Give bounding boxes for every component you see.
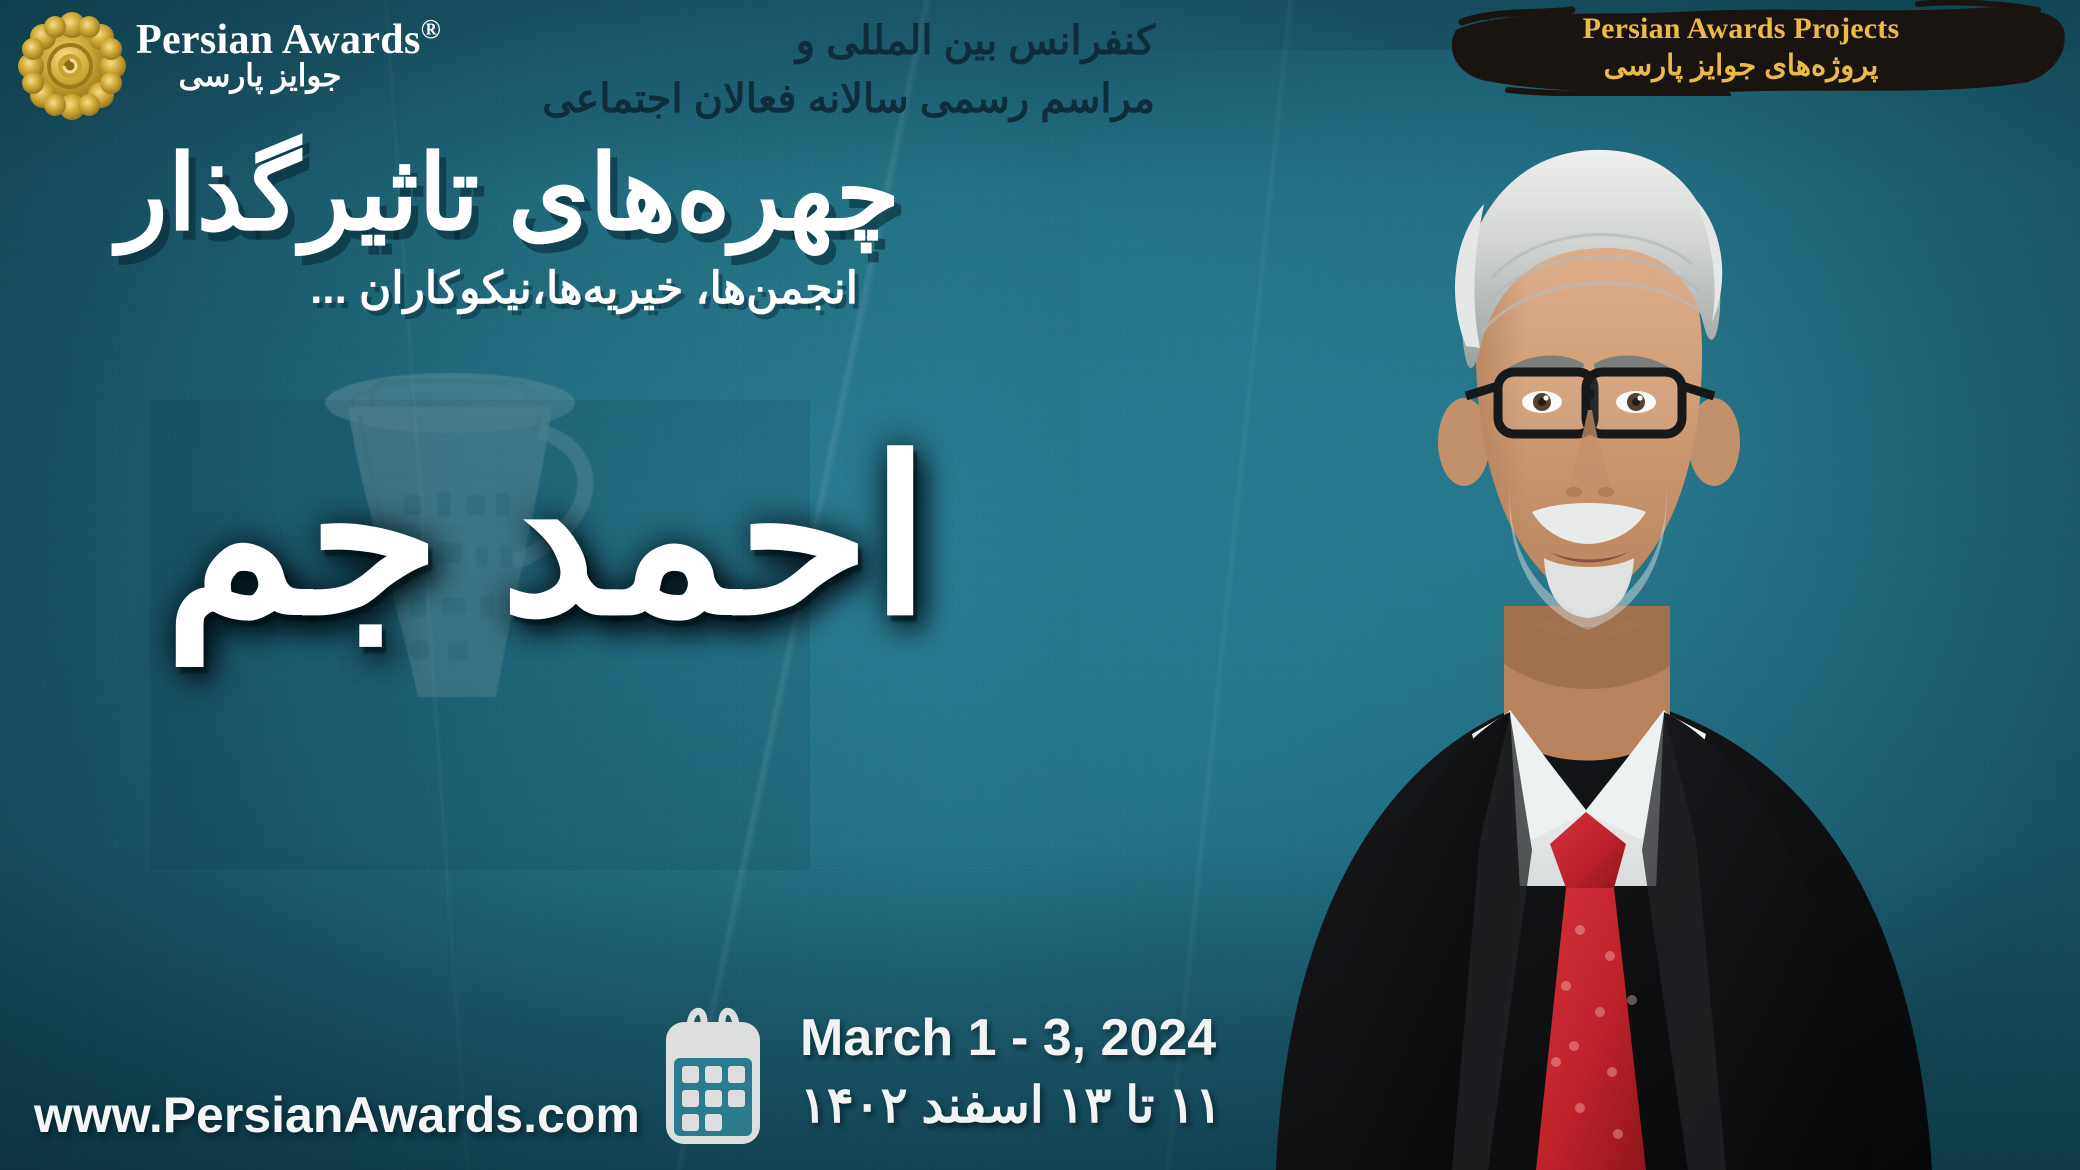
- brand-name-en-text: Persian Awards: [136, 17, 421, 63]
- projects-badge-title-en: Persian Awards Projects: [1448, 12, 2034, 46]
- event-date-en: March 1 - 3, 2024: [800, 1008, 1216, 1068]
- event-date-fa: ۱۱ تا ۱۳ اسفند ۱۴۰۲: [800, 1076, 1222, 1134]
- portrait-of-honoree: [1080, 50, 2080, 1170]
- conference-line-1: کنفرانس بین المللی و: [796, 18, 1155, 64]
- brand-logo[interactable]: Persian Awards® جوایز پارسی: [18, 6, 498, 126]
- website-url[interactable]: www.PersianAwards.com: [34, 1086, 640, 1144]
- rosette-medallion-icon: [18, 12, 126, 120]
- calendar-icon: [648, 1000, 778, 1148]
- projects-badge[interactable]: Persian Awards Projects پروژه‌های جوایز …: [1448, 0, 2068, 96]
- projects-badge-title-fa: پروژه‌های جوایز پارسی: [1448, 48, 2034, 83]
- event-poster: Persian Awards® جوایز پارسی Persian Awar…: [0, 0, 2080, 1170]
- brand-name-en: Persian Awards®: [136, 14, 441, 64]
- conference-line-2: مراسم رسمی سالانه فعالان اجتماعی: [542, 76, 1155, 122]
- poster-headline: چهره‌های تاثیرگذار: [118, 132, 901, 254]
- poster-tagline: انجمن‌ها، خیریه‌ها،نیکوکاران ...: [310, 263, 858, 314]
- brand-name-fa: جوایز پارسی: [136, 58, 384, 94]
- honoree-name: احمد جم: [164, 430, 930, 645]
- registered-trademark-icon: ®: [421, 14, 441, 44]
